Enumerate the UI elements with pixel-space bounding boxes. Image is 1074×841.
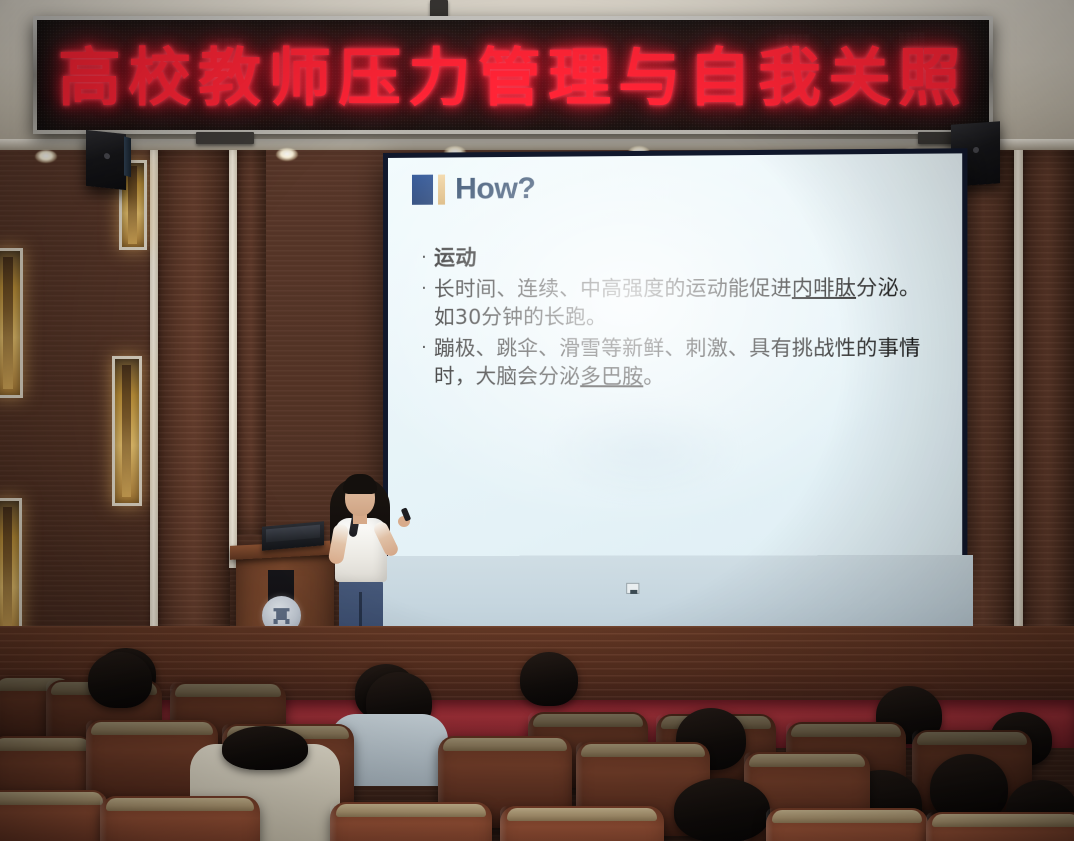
speaker-bracket-left bbox=[124, 137, 131, 178]
ceiling-downlight-1 bbox=[35, 150, 57, 163]
led-banner-text: 高校教师压力管理与自我关照 bbox=[37, 28, 989, 119]
bullet-marker: · bbox=[414, 244, 434, 272]
audience-seat bbox=[0, 790, 108, 841]
speaker-cone-right bbox=[973, 146, 979, 152]
led-banner: ▒▒▒▒ ▒▒ ▒ ▒▒▒▒▒ ▒▒▒▒▒ ▒▒ ▒▒ ▒▒▒▒ ▒▒▒▒ ▒▒… bbox=[33, 16, 993, 134]
audience-seat bbox=[766, 808, 928, 841]
bullet-term-endorphin: 内啡肽 bbox=[792, 275, 856, 300]
audience-seat bbox=[100, 796, 260, 841]
audience-head-front-3 bbox=[674, 778, 770, 841]
audience-seat bbox=[330, 802, 492, 841]
audience-seat bbox=[500, 806, 664, 841]
wood-panel-left-b bbox=[236, 150, 266, 535]
bullet-text: 长时间、连续、中高强度的运动能促进内啡肽分泌。如30分钟的长跑。 bbox=[434, 273, 937, 332]
audience-seat bbox=[926, 812, 1074, 841]
bullet-marker: · bbox=[414, 274, 434, 302]
bullet-text: 蹦极、跳伞、滑雪等新鲜、刺激、具有挑战性的事情时，大脑会分泌多巴胺。 bbox=[434, 333, 937, 391]
wall-outlet bbox=[626, 583, 639, 594]
audience-head-front-2 bbox=[222, 726, 308, 770]
projection-screen[interactable]: How? · 运动 · 长时间、连续、中高强度的运动能促进内啡肽分泌。如30分钟… bbox=[383, 148, 967, 568]
bullet-text-part: 长时间、连续、中高强度的运动能促进 bbox=[434, 275, 792, 300]
presenter-hair-front bbox=[343, 474, 377, 494]
audience-head-front-1 bbox=[88, 652, 152, 708]
slide-bullet-3: · 蹦极、跳伞、滑雪等新鲜、刺激、具有挑战性的事情时，大脑会分泌多巴胺。 bbox=[414, 333, 937, 391]
bullet-text: 运动 bbox=[434, 244, 477, 273]
screen-hotspot bbox=[546, 397, 741, 502]
bullet-text-part: 蹦极、跳伞、滑雪等新鲜、刺激、具有挑战性的事情时，大脑会分泌 bbox=[434, 335, 921, 388]
slide-body: · 运动 · 长时间、连续、中高强度的运动能促进内啡肽分泌。如30分钟的长跑。 … bbox=[414, 241, 937, 393]
slide-accent-square-icon bbox=[412, 175, 433, 205]
slide-surface: How? · 运动 · 长时间、连续、中高强度的运动能促进内啡肽分泌。如30分钟… bbox=[388, 153, 962, 560]
bullet-term-dopamine: 多巴胺 bbox=[580, 364, 643, 388]
slide-title: How? bbox=[455, 174, 535, 205]
slide-bullet-2: · 长时间、连续、中高强度的运动能促进内啡肽分泌。如30分钟的长跑。 bbox=[414, 273, 937, 332]
wood-panel-left-a bbox=[158, 150, 230, 650]
audience-head-far-3 bbox=[520, 652, 578, 706]
pilaster-right-2 bbox=[1014, 148, 1023, 653]
ceiling-speaker-left bbox=[86, 130, 126, 190]
slide-title-row: How? bbox=[412, 174, 535, 205]
wall-niche-light-2 bbox=[0, 248, 23, 398]
wood-panel-right-b bbox=[1022, 150, 1074, 650]
pilaster-left-1 bbox=[150, 148, 158, 653]
auditorium-scene: ▒▒▒▒ ▒▒ ▒ ▒▒▒▒▒ ▒▒▒▒▒ ▒▒ ▒▒ ▒▒▒▒ ▒▒▒▒ ▒▒… bbox=[0, 0, 1074, 841]
pilaster-left-2 bbox=[229, 148, 237, 568]
slide-bullet-1: · 运动 bbox=[414, 241, 937, 272]
slide-accent-bar-icon bbox=[438, 175, 445, 205]
speaker-cone-left bbox=[104, 153, 110, 160]
bullet-marker: · bbox=[414, 333, 434, 361]
banner-mount-left bbox=[196, 132, 254, 144]
ceiling-downlight-2 bbox=[276, 148, 298, 161]
bullet-text-part: 。 bbox=[643, 364, 664, 388]
wall-niche-light-3 bbox=[112, 356, 142, 506]
